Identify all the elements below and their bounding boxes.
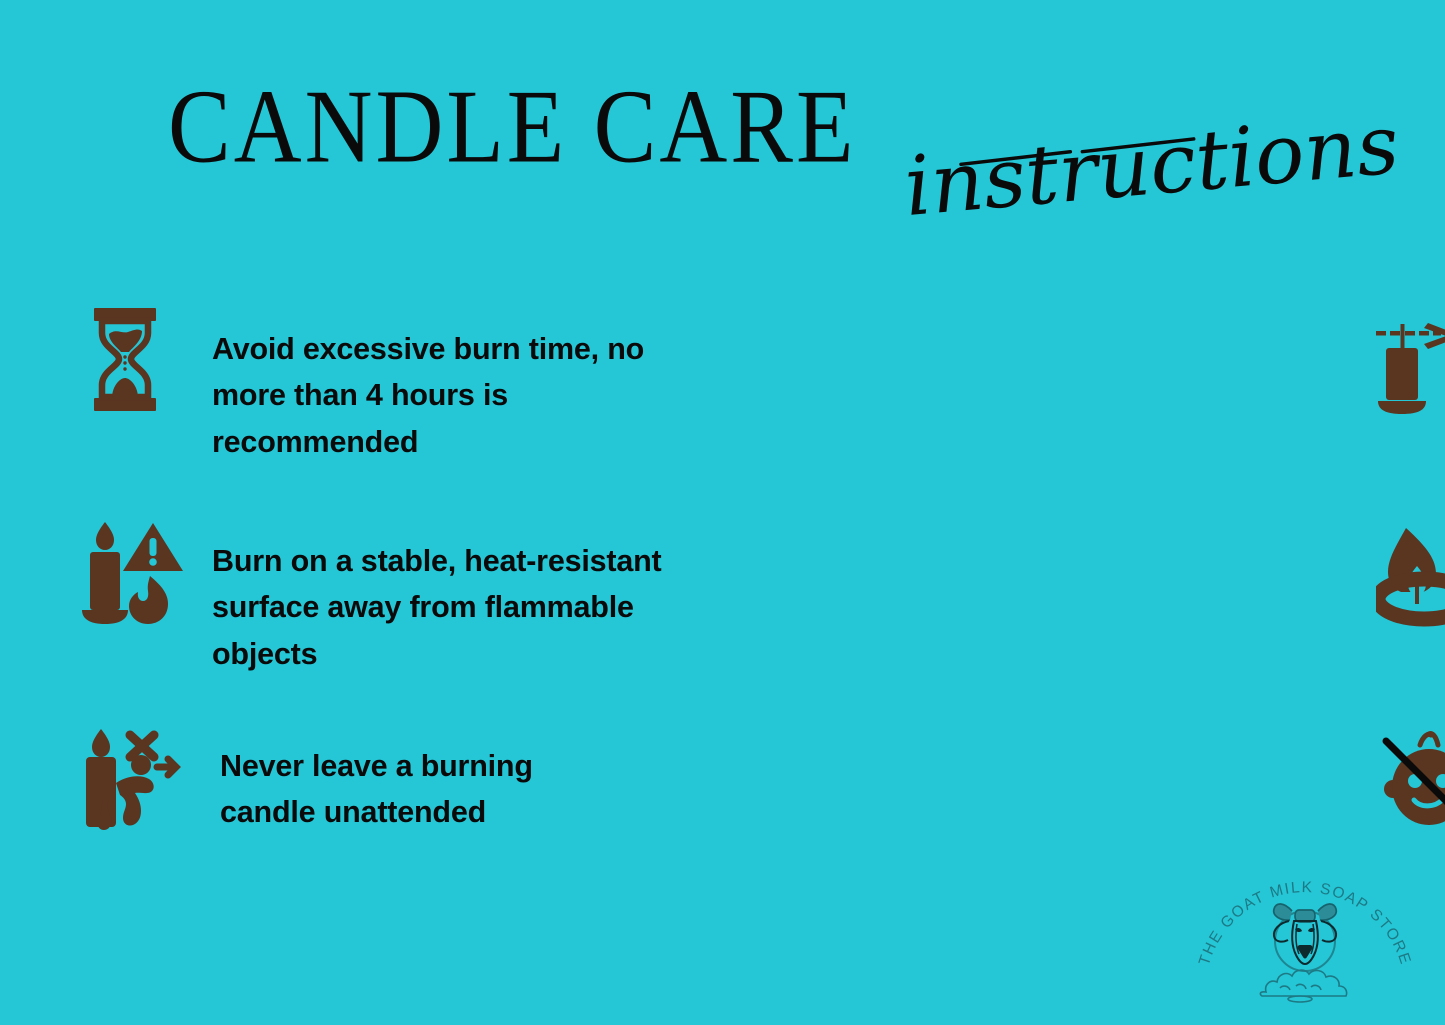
- page-title: CANDLE CARE: [168, 74, 856, 179]
- tip-item: Burn on a stable, heat-resistant surface…: [78, 512, 758, 717]
- tip-text: Burn on a stable, heat-resistant surface…: [212, 512, 682, 677]
- tip-item: Keep out of reach of pets and children: [768, 717, 1445, 837]
- wick-trim-scissors-icon: [1376, 300, 1445, 418]
- header: CANDLE CARE instructions: [0, 0, 1445, 265]
- unattended-candle-person-icon: [78, 723, 190, 833]
- tip-item: Trim the wick to 1/4 " tall before every…: [768, 300, 1445, 512]
- candle-warning-flame-icon: [78, 514, 190, 632]
- tips-grid: Avoid excessive burn time, no more than …: [0, 300, 1445, 837]
- tip-text: Never leave a burning candle unattended: [212, 717, 612, 836]
- tip-text: Avoid excessive burn time, no more than …: [212, 300, 657, 465]
- brand-logo: THE GOAT MILK SOAP STORE: [1196, 866, 1414, 1018]
- tip-item: Avoid excessive burn time, no more than …: [78, 300, 758, 512]
- hourglass-icon: [78, 300, 190, 418]
- goat-head-soap-suds-icon: [1260, 904, 1346, 1002]
- tip-item: Never leave a burning candle unattended: [78, 717, 758, 837]
- no-children-pets-icon: [1376, 723, 1445, 833]
- tip-item: Allow candle to melt to the edge of the …: [768, 512, 1445, 717]
- subtitle-script-text: instructions: [901, 97, 1403, 235]
- melting-candle-flame-icon: [1376, 514, 1445, 632]
- candle-care-instructions-card: CANDLE CARE instructions: [0, 0, 1445, 1025]
- page-subtitle-script: instructions: [905, 112, 1255, 232]
